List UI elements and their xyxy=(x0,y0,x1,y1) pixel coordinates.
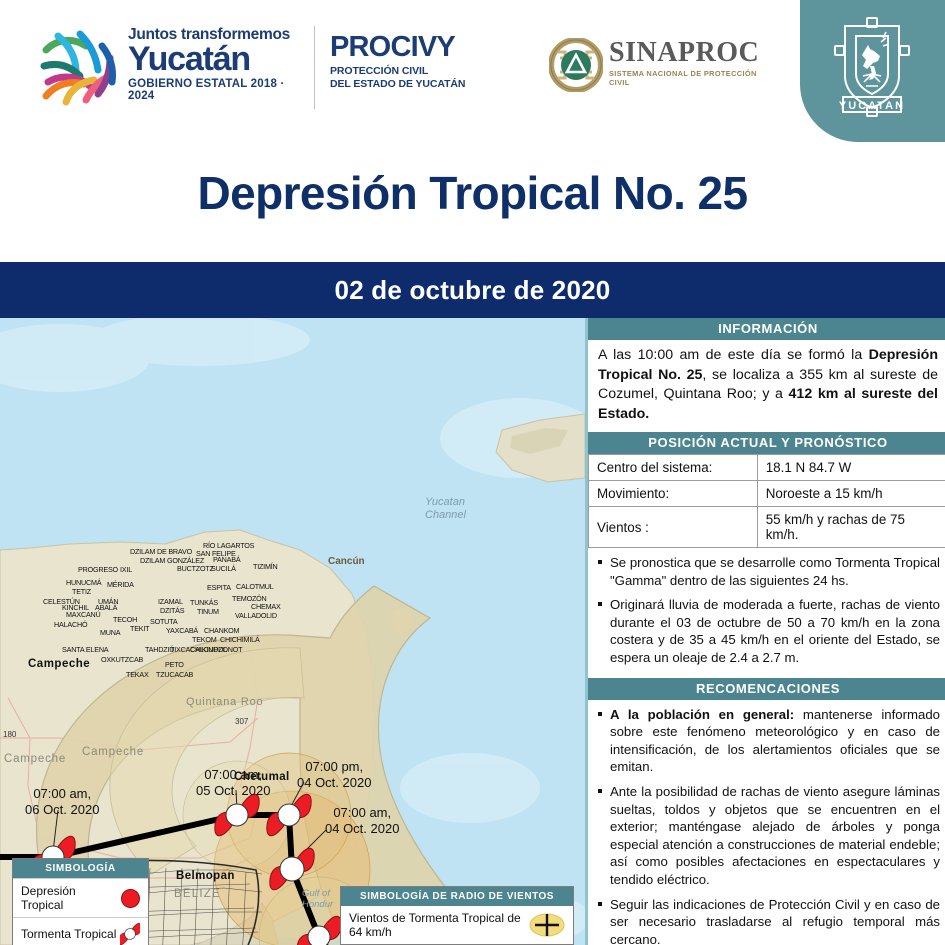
legend-row-depresion: Depresión Tropical xyxy=(13,878,148,917)
list-item: Ante la posibilidad de rachas de viento … xyxy=(598,783,940,889)
info-text-run: A las 10:00 am de este día se formó la xyxy=(598,347,869,363)
track-label-line2: 05 Oct. 2020 xyxy=(196,783,270,799)
header-divider xyxy=(314,26,315,109)
row-value-movimiento: Noroeste a 15 km/h xyxy=(757,481,945,507)
legend-label-depresion: Depresión Tropical xyxy=(21,884,121,912)
header-bar: Juntos transformemos Yucatán GOBIERNO ES… xyxy=(0,0,945,142)
legend-wind-title: SIMBOLOGÍA DE RADIO DE VIENTOS xyxy=(341,887,573,906)
list-item: A la población en general: mantenerse in… xyxy=(598,706,940,776)
track-time-label-p-07am-06: 07:00 am,06 Oct. 2020 xyxy=(25,786,99,817)
info-paragraph: A las 10:00 am de este día se formó la D… xyxy=(588,340,945,432)
position-section-heading: POSICIÓN ACTUAL Y PRONÓSTICO xyxy=(588,432,945,454)
track-label-line1: 07:00 am, xyxy=(196,767,270,783)
track-label-line1: 07:00 am, xyxy=(25,786,99,802)
table-row: Movimiento: Noroeste a 15 km/h xyxy=(589,481,945,507)
legend-wind-label: Vientos de Tormenta Tropical de 64 km/h xyxy=(349,911,527,939)
title-area: Depresión Tropical No. 25 xyxy=(0,142,945,262)
wind-radius-swatch-icon xyxy=(529,912,565,938)
track-time-label-p-07am-04: 07:00 am,04 Oct. 2020 xyxy=(325,805,399,836)
page-title: Depresión Tropical No. 25 xyxy=(0,166,945,220)
row-value-centro: 18.1 N 84.7 W xyxy=(757,455,945,481)
track-time-label-p-07pm-04: 07:00 pm,04 Oct. 2020 xyxy=(297,759,371,790)
track-label-line2: 04 Oct. 2020 xyxy=(325,821,399,837)
row-label-movimiento: Movimiento: xyxy=(589,481,758,507)
gov-line2: Yucatán xyxy=(128,42,308,76)
yucatan-coat-of-arms-icon: YUCATAN xyxy=(829,14,915,122)
track-time-label-p-07am-05: 07:00 am,05 Oct. 2020 xyxy=(196,767,270,798)
legend-wind-radius: SIMBOLOGÍA DE RADIO DE VIENTOS Vientos d… xyxy=(340,886,574,945)
yucatan-gov-logo-icon xyxy=(36,24,122,110)
gov-wordmark: Juntos transformemos Yucatán GOBIERNO ES… xyxy=(128,26,308,102)
date-banner: 02 de octubre de 2020 xyxy=(0,262,945,318)
track-time-labels: 10:00 am,02 Oct. 202007:00 pm,02 Oct. 20… xyxy=(0,318,585,945)
legend-symbology: SIMBOLOGÍA Depresión Tropical Tormenta T… xyxy=(12,858,149,945)
legend-symbology-title: SIMBOLOGÍA xyxy=(13,859,148,878)
forecast-map[interactable]: YucatanChannel Cancún Quintana Roo Campe… xyxy=(0,318,585,945)
recommendations-list: A la población en general: mantenerse in… xyxy=(588,700,945,945)
legend-label-tormenta: Tormenta Tropical xyxy=(21,927,116,941)
info-section-heading: INFORMACIÓN xyxy=(588,318,945,340)
procivy-wordmark: PROCIVY PROTECCIÓN CIVIL DEL ESTADO DE Y… xyxy=(330,32,465,91)
recommendation-lead: A la población en general: xyxy=(610,707,794,722)
sinaproc-mark-icon xyxy=(549,38,603,92)
procivy-line1: PROTECCIÓN CIVIL xyxy=(330,65,465,78)
depression-dot-icon xyxy=(121,889,140,908)
info-panel: INFORMACIÓN A las 10:00 am de este día s… xyxy=(585,318,945,945)
date-banner-text: 02 de octubre de 2020 xyxy=(0,262,945,318)
track-label-line1: 07:00 pm, xyxy=(297,759,371,775)
recommendations-section-heading: RECOMENCACIONES xyxy=(588,678,945,700)
procivy-line2: DEL ESTADO DE YUCATÁN xyxy=(330,78,465,91)
track-label-line2: 04 Oct. 2020 xyxy=(297,775,371,791)
list-item: Originará lluvia de moderada a fuerte, r… xyxy=(598,596,940,666)
tropical-storm-symbol-icon xyxy=(120,923,140,945)
track-label-line1: 07:00 am, xyxy=(325,805,399,821)
track-label-line2: 06 Oct. 2020 xyxy=(25,802,99,818)
legend-wind-row: Vientos de Tormenta Tropical de 64 km/h xyxy=(341,906,573,944)
legend-row-tormenta: Tormenta Tropical xyxy=(13,917,148,945)
procivy-name: PROCIVY xyxy=(330,32,465,62)
table-row: Centro del sistema: 18.1 N 84.7 W xyxy=(589,455,945,481)
sinaproc-sub: SISTEMA NACIONAL DE PROTECCIÓN CIVIL xyxy=(609,69,759,87)
gov-line3: GOBIERNO ESTATAL 2018 · 2024 xyxy=(128,78,308,102)
list-item: Se pronostica que se desarrolle como Tor… xyxy=(598,554,940,589)
table-row: Vientos : 55 km/h y rachas de 75 km/h. xyxy=(589,507,945,548)
list-item: Seguir las indicaciones de Protección Ci… xyxy=(598,896,940,945)
row-label-centro: Centro del sistema: xyxy=(589,455,758,481)
position-table: Centro del sistema: 18.1 N 84.7 W Movimi… xyxy=(588,454,945,548)
sinaproc-name: SINAPROC xyxy=(609,38,759,68)
position-bullets: Se pronostica que se desarrolle como Tor… xyxy=(588,548,945,678)
row-label-vientos: Vientos : xyxy=(589,507,758,548)
infographic-page: Juntos transformemos Yucatán GOBIERNO ES… xyxy=(0,0,945,945)
row-value-vientos: 55 km/h y rachas de 75 km/h. xyxy=(757,507,945,548)
svg-text:YUCATAN: YUCATAN xyxy=(839,100,905,112)
